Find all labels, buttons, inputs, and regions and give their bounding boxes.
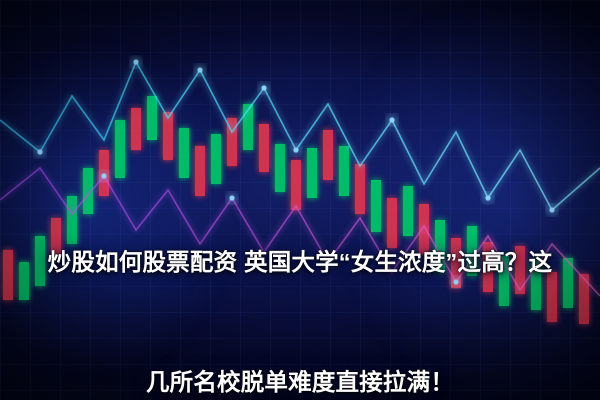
- headline-text: 炒股如何股票配资 英国大学“女生浓度”过高？这 几所名校脱单难度直接拉满！: [0, 162, 600, 400]
- headline-line-2: 几所名校脱单难度直接拉满！: [0, 362, 600, 400]
- headline-line-1: 炒股如何股票配资 英国大学“女生浓度”过高？这: [0, 242, 600, 282]
- image-canvas: 炒股如何股票配资 英国大学“女生浓度”过高？这 几所名校脱单难度直接拉满！: [0, 0, 600, 400]
